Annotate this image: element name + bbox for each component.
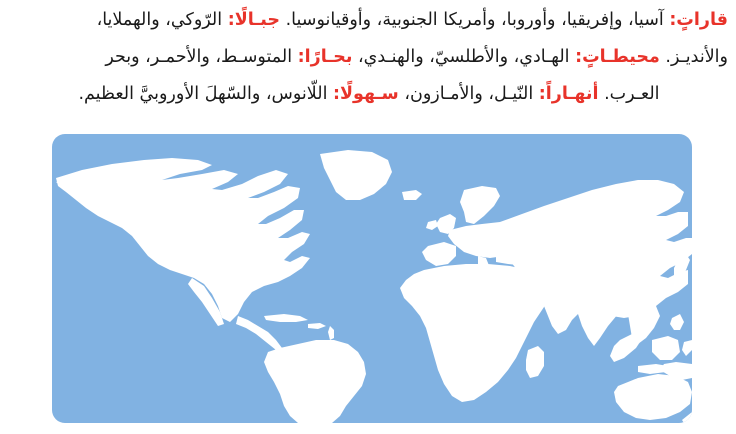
landmass-new-zealand	[682, 412, 692, 423]
line-3-body-3: اللّانوس، والسّهلَ الأوروبيَّ العظيم.	[78, 84, 333, 104]
paragraph-line-1: قاراتٍ: آسيا، وإفريقيا، وأوروبا، وأمريكا…	[10, 2, 728, 39]
landmass-caribbean-islands	[264, 314, 308, 322]
keyword-plains: سـهولًا:	[333, 84, 399, 104]
landmass-india	[576, 292, 624, 346]
keyword-oceans: محيطـاتٍ:	[575, 47, 660, 67]
line-2-body-2: الهـادي، والأطلسيّ، والهنـدي،	[352, 47, 575, 67]
world-map-figure	[52, 134, 692, 423]
paragraph-line-3: العـرب. أنهـاراً: النّيـل، والأمـازون، س…	[10, 76, 728, 113]
landmass-ireland	[426, 220, 438, 230]
keyword-seas: بحـارًا:	[298, 47, 353, 67]
landmass-philippines	[670, 314, 684, 330]
world-map-svg	[52, 134, 692, 423]
page-root: قاراتٍ: آسيا، وإفريقيا، وأوروبا، وأمريكا…	[0, 0, 736, 434]
landmass-iberia	[422, 242, 456, 266]
landmass-australia	[614, 374, 692, 420]
landmass-sulawesi	[682, 340, 692, 356]
line-3-body-1: العـرب.	[599, 84, 660, 104]
line-1-body-2: الرّوكي، والهملايا،	[97, 10, 228, 30]
landmass-borneo	[652, 336, 680, 360]
landmass-iceland	[402, 190, 422, 200]
world-map-card	[52, 134, 692, 423]
line-3-body-2: النّيـل، والأمـازون،	[399, 84, 539, 104]
line-2-body-3: المتوسـط، والأحمـر، وبحر	[105, 47, 297, 67]
landmass-south-america	[264, 340, 366, 423]
line-1-body-1: آسيا، وإفريقيا، وأوروبا، وأمريكا الجنوبي…	[280, 10, 669, 30]
landmass-scandinavia	[460, 186, 500, 224]
keyword-continents: قاراتٍ:	[669, 10, 728, 30]
landmass-greenland	[320, 150, 392, 200]
landmass-sumatra	[610, 332, 644, 362]
paragraph-line-2: والأنديـز. محيطـاتٍ: الهـادي، والأطلسيّ،…	[10, 39, 728, 76]
line-2-body-1: والأنديـز.	[660, 47, 728, 67]
landmass-hispaniola	[308, 323, 326, 329]
landmass-lesser-antilles	[328, 326, 334, 340]
keyword-mountains: جبـالًا:	[228, 10, 280, 30]
arabic-paragraph: قاراتٍ: آسيا، وإفريقيا، وأوروبا، وأمريكا…	[0, 0, 736, 113]
keyword-rivers: أنهـاراً:	[539, 84, 599, 104]
landmass-madagascar	[526, 346, 544, 378]
